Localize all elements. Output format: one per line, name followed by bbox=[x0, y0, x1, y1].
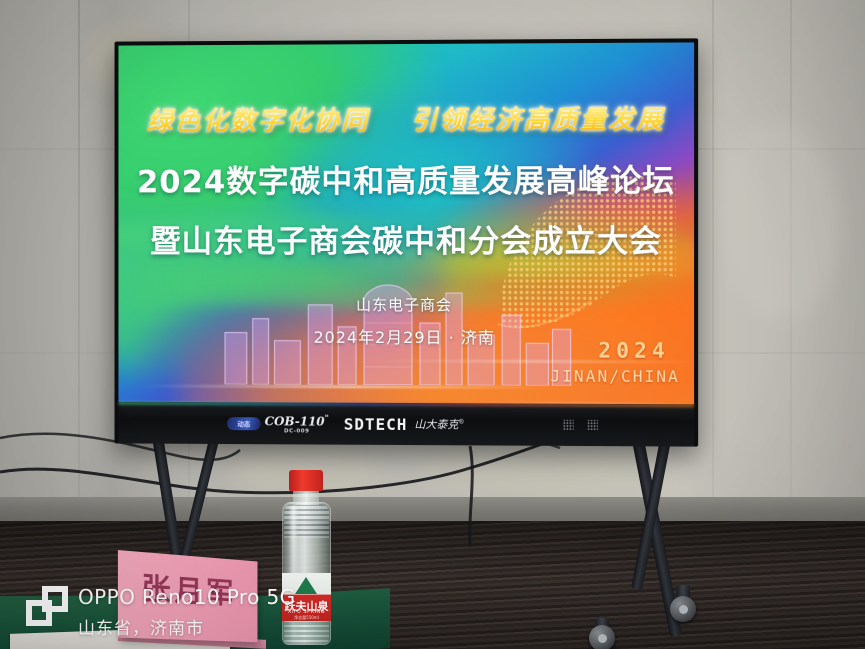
bottle-volume: 净含量550ml bbox=[282, 615, 331, 621]
qr-code-icon-2 bbox=[588, 420, 598, 430]
dongtai-badge: 动态 bbox=[227, 417, 261, 430]
qr-code-icon-1 bbox=[564, 420, 574, 430]
bezel-model: COB-110" bbox=[265, 413, 329, 427]
display-bezel: 动态 COB-110" DC-009 SDTECH 山大泰克® bbox=[118, 402, 694, 447]
screen-organizer: 山东电子商会 bbox=[118, 294, 694, 316]
watermark-device: OPPO Reno10 Pro 5G bbox=[78, 585, 296, 609]
water-bottle: 跃夫山泉 XIFU SPRING 净含量550ml bbox=[278, 470, 336, 645]
bezel-brand-center: SDTECH 山大泰克® bbox=[344, 414, 465, 434]
photo-scene: 绿色化数字化协同引领经济高质量发展 2024数字碳中和高质量发展高峰论坛 暨山东… bbox=[0, 0, 865, 649]
slogan-right: 引领经济高质量发展 bbox=[411, 105, 665, 136]
screen-slogan: 绿色化数字化协同引领经济高质量发展 bbox=[118, 99, 694, 138]
oppo-logo-icon bbox=[26, 586, 70, 630]
screen-title-line-2: 暨山东电子商会碳中和分会成立大会 bbox=[118, 216, 694, 261]
led-display[interactable]: 绿色化数字化协同引领经济高质量发展 2024数字碳中和高质量发展高峰论坛 暨山东… bbox=[115, 38, 699, 446]
screen-city-badge: JINAN/CHINA bbox=[551, 366, 680, 386]
screen-title-line-1: 2024数字碳中和高质量发展高峰论坛 bbox=[118, 155, 694, 201]
bezel-model-code: DC-009 bbox=[265, 428, 329, 434]
caster-right-front bbox=[589, 625, 615, 649]
screen-year-badge: 2024 bbox=[598, 339, 669, 363]
sdtech-wordmark: SDTECH bbox=[344, 414, 408, 433]
bezel-qr-group bbox=[564, 420, 598, 430]
bezel-brand-left: 动态 COB-110" DC-009 bbox=[227, 413, 329, 434]
caster-right-back bbox=[670, 596, 696, 622]
watermark-location: 山东省，济南市 bbox=[78, 614, 204, 639]
bottle-cap bbox=[289, 470, 323, 491]
display-canvas: 绿色化数字化协同引领经济高质量发展 2024数字碳中和高质量发展高峰论坛 暨山东… bbox=[118, 42, 694, 404]
sdtech-chinese-name: 山大泰克® bbox=[414, 416, 464, 432]
slogan-left: 绿色化数字化协同 bbox=[147, 106, 369, 137]
mountain-icon bbox=[295, 577, 317, 594]
